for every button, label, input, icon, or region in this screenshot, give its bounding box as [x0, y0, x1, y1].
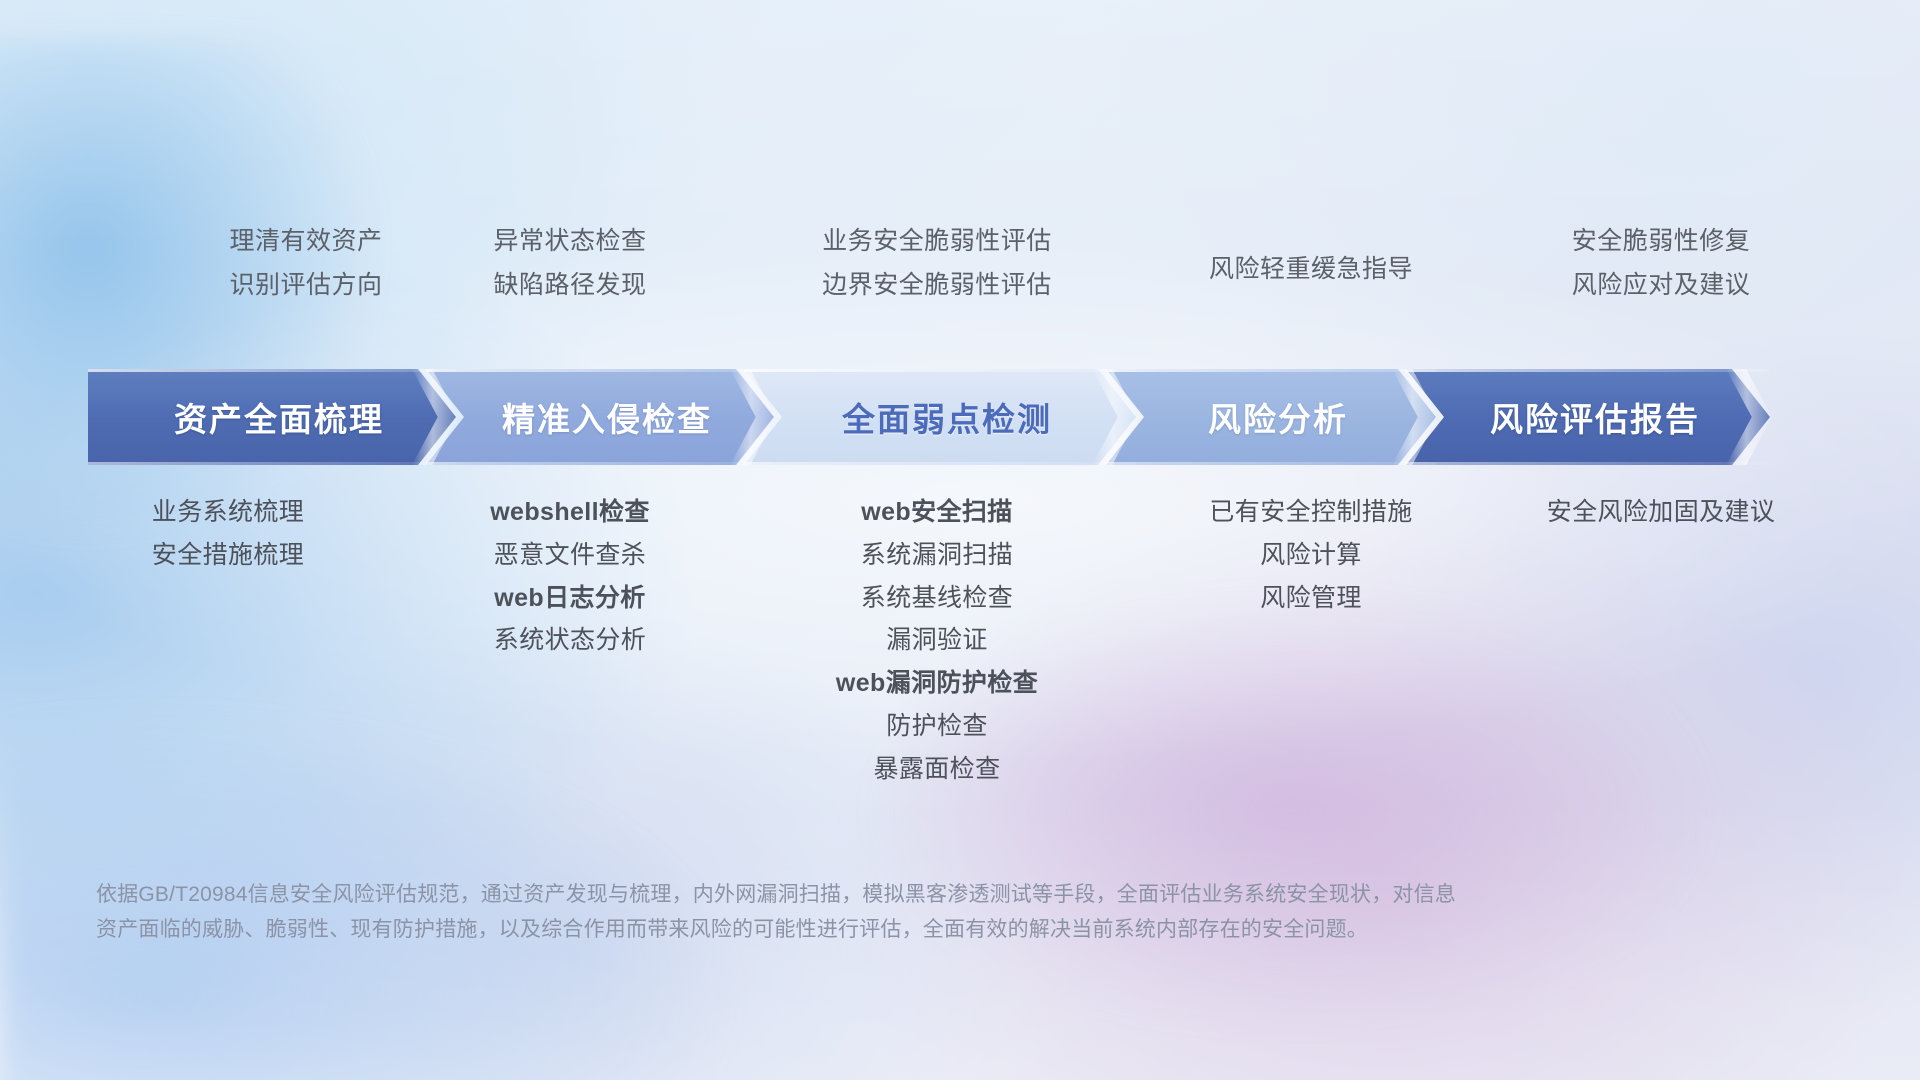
bottom-item: 系统状态分析 [494, 626, 646, 655]
bottom-item: web漏洞防护检查 [836, 669, 1038, 698]
bottom-item: 已有安全控制措施 [1209, 498, 1412, 527]
bottom-item: 风险计算 [1260, 541, 1362, 570]
bottom-item: 系统漏洞扫描 [861, 541, 1013, 570]
bottom-item: webshell检查 [490, 498, 650, 527]
chevron-stage-risk-report[interactable]: 风险评估报告 [1406, 369, 1770, 465]
top-notes-risk-analysis: 风险轻重缓急指导 [1146, 256, 1476, 284]
top-note: 业务安全脆弱性评估 [822, 228, 1052, 256]
chevron-label: 风险评估报告 [1476, 393, 1700, 441]
bottom-items-intrusion-check: webshell检查恶意文件查杀web日志分析系统状态分析 [405, 498, 735, 655]
chevron-stage-weakness-detection[interactable]: 全面弱点检测 [744, 369, 1136, 465]
bottom-item: 安全风险加固及建议 [1547, 498, 1776, 527]
top-note: 风险轻重缓急指导 [1209, 256, 1413, 284]
bottom-items-weakness-detection: web安全扫描系统漏洞扫描系统基线检查漏洞验证web漏洞防护检查防护检查暴露面检… [727, 498, 1147, 783]
chevron-label: 全面弱点检测 [828, 393, 1052, 441]
bottom-item: web日志分析 [494, 584, 645, 613]
top-notes-intrusion-check: 异常状态检查缺陷路径发现 [405, 228, 735, 299]
footer-line-2: 资产面临的威胁、脆弱性、现有防护措施，以及综合作用而带来风险的可能性进行评估，全… [96, 913, 1696, 948]
chevron-process-banner: 资产全面梳理精准入侵检查全面弱点检测风险分析风险评估报告 [88, 369, 1850, 465]
top-note: 理清有效资产 [229, 228, 382, 256]
bottom-item: 业务系统梳理 [152, 498, 304, 527]
chevron-stage-risk-analysis[interactable]: 风险分析 [1106, 369, 1436, 465]
bottom-item: 防护检查 [886, 712, 988, 741]
top-notes-weakness-detection: 业务安全脆弱性评估边界安全脆弱性评估 [727, 228, 1147, 299]
footer-description: 依据GB/T20984信息安全风险评估规范，通过资产发现与梳理，内外网漏洞扫描，… [96, 878, 1696, 947]
bottom-item: 漏洞验证 [886, 626, 988, 655]
bottom-item: 恶意文件查杀 [494, 541, 646, 570]
chevron-label: 资产全面梳理 [160, 393, 384, 441]
top-note: 风险应对及建议 [1572, 272, 1751, 300]
top-note: 安全脆弱性修复 [1572, 228, 1751, 256]
bottom-item: 风险管理 [1260, 584, 1362, 613]
process-diagram: 理清有效资产识别评估方向异常状态检查缺陷路径发现业务安全脆弱性评估边界安全脆弱性… [0, 0, 1920, 1080]
chevron-stage-asset-inventory[interactable]: 资产全面梳理 [88, 369, 456, 465]
bottom-item: 安全措施梳理 [152, 541, 304, 570]
bottom-items-risk-report: 安全风险加固及建议 [1481, 498, 1841, 527]
top-note: 识别评估方向 [229, 272, 382, 300]
top-notes-risk-report: 安全脆弱性修复风险应对及建议 [1481, 228, 1841, 299]
top-note: 异常状态检查 [493, 228, 646, 256]
chevron-label: 精准入侵检查 [488, 393, 712, 441]
bottom-item: web安全扫描 [861, 498, 1012, 527]
bottom-items-risk-analysis: 已有安全控制措施风险计算风险管理 [1146, 498, 1476, 612]
bottom-item: 暴露面检查 [873, 755, 1000, 784]
bottom-item: 系统基线检查 [861, 584, 1013, 613]
bottom-items-asset-inventory: 业务系统梳理安全措施梳理 [78, 498, 378, 570]
top-note: 边界安全脆弱性评估 [822, 272, 1052, 300]
top-note: 缺陷路径发现 [493, 272, 646, 300]
chevron-label: 风险分析 [1194, 393, 1348, 441]
footer-line-1: 依据GB/T20984信息安全风险评估规范，通过资产发现与梳理，内外网漏洞扫描，… [96, 878, 1696, 913]
chevron-stage-intrusion-check[interactable]: 精准入侵检查 [426, 369, 774, 465]
